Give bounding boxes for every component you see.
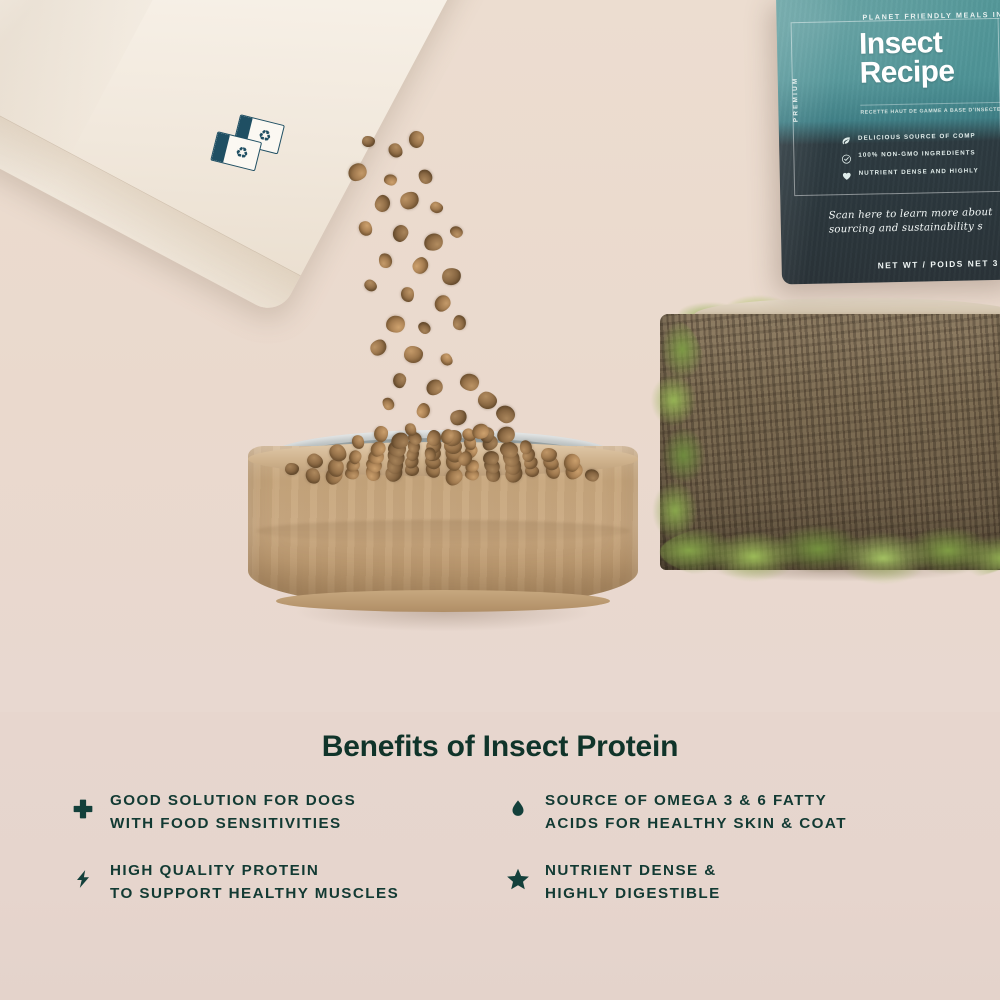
leaf-icon [841, 133, 851, 143]
check-badge-icon [841, 150, 851, 160]
stump-shadow [654, 560, 1000, 586]
kibble-piece [459, 373, 480, 392]
benefit-line-2: ACIDS FOR HEALTHY SKIN & COAT [545, 813, 847, 836]
bag-bullet-text: NUTRIENT DENSE AND HIGHLY [859, 167, 979, 177]
kibble-piece [303, 466, 323, 487]
bag-bullet-text: DELICIOUS SOURCE OF COMP [858, 132, 976, 141]
product-photo-scene: PLANET FRIENDLY MEALS IN PREMIUM Insect … [0, 0, 1000, 712]
bag-premium-label: PREMIUM [791, 48, 807, 122]
star-icon [505, 862, 531, 896]
benefits-heading: Benefits of Insect Protein [0, 730, 1000, 763]
kibble-piece [362, 277, 379, 294]
kibble-piece [438, 351, 455, 368]
benefit-text: GOOD SOLUTION FOR DOGS WITH FOOD SENSITI… [110, 790, 356, 836]
tree-stump [660, 298, 1000, 588]
benefit-item-food-sensitivities: GOOD SOLUTION FOR DOGS WITH FOOD SENSITI… [70, 790, 505, 860]
kibble-piece [476, 390, 499, 412]
kibble-piece [362, 136, 375, 147]
benefit-line-1: SOURCE OF OMEGA 3 & 6 FATTY [545, 792, 827, 809]
kibble-piece [385, 315, 406, 334]
bag-bullet-text: 100% NON-GMO INGREDIENTS [858, 149, 975, 158]
kibble-piece [421, 231, 445, 254]
bag-title-line2: Recipe [859, 58, 954, 89]
benefit-line-1: HIGH QUALITY PROTEIN [110, 862, 319, 879]
benefit-text: HIGH QUALITY PROTEIN TO SUPPORT HEALTHY … [110, 860, 399, 906]
kibble-piece [391, 223, 411, 244]
kibble-piece [448, 224, 465, 240]
kibble-piece [356, 219, 375, 238]
benefit-line-2: WITH FOOD SENSITIVITIES [110, 813, 356, 836]
bag-bullet-item: NUTRIENT DENSE AND HIGHLY [842, 164, 1000, 178]
benefit-line-2: HIGHLY DIGESTIBLE [545, 883, 721, 906]
kibble-piece [431, 292, 453, 315]
kibble-piece [447, 407, 469, 428]
kibble-piece [408, 130, 424, 148]
droplet-icon [505, 792, 531, 826]
bowl-wood-grain [256, 520, 630, 542]
kibble-piece [345, 160, 370, 185]
benefit-line-2: TO SUPPORT HEALTHY MUSCLES [110, 883, 399, 906]
recycling-labels: ♻ ♻ [204, 109, 295, 188]
kibble-piece [373, 194, 391, 214]
benefit-text: SOURCE OF OMEGA 3 & 6 FATTY ACIDS FOR HE… [545, 790, 847, 836]
benefits-panel: Benefits of Insect Protein GOOD SOLUTION… [0, 712, 1000, 1000]
product-marketing-image: PLANET FRIENDLY MEALS IN PREMIUM Insect … [0, 0, 1000, 1000]
kibble-piece [404, 346, 423, 363]
bag-bullet-list: DELICIOUS SOURCE OF COMP 100% NON-GMO IN… [841, 129, 1000, 185]
kibble-piece [285, 463, 299, 475]
recycle-icon: ♻ [225, 142, 260, 164]
kibble-piece [397, 188, 422, 212]
bag-bullet-item: 100% NON-GMO INGREDIENTS [841, 147, 1000, 161]
kibble-piece [415, 402, 431, 420]
kibble-piece [386, 141, 406, 161]
kibble-piece [377, 251, 394, 269]
insect-recipe-product-bag: PLANET FRIENDLY MEALS IN PREMIUM Insect … [776, 0, 1000, 284]
benefit-line-1: GOOD SOLUTION FOR DOGS [110, 792, 356, 809]
heart-icon [842, 168, 852, 178]
kibble-piece [423, 376, 446, 398]
kibble-piece [440, 266, 463, 287]
plus-icon [70, 792, 96, 826]
lightning-bolt-icon [70, 862, 96, 896]
kibble-piece [416, 319, 433, 336]
benefit-text: NUTRIENT DENSE & HIGHLY DIGESTIBLE [545, 860, 721, 906]
benefit-line-1: NUTRIENT DENSE & [545, 862, 717, 879]
kibble-piece [392, 373, 406, 389]
kibble-piece [400, 286, 416, 303]
kibble-piece [584, 467, 601, 483]
kibble-piece [410, 254, 431, 276]
bag-product-title: Insect Recipe [859, 29, 955, 89]
falling-kibble-stream [300, 130, 600, 440]
bag-scan-script-text: Scan here to learn more about sourcing a… [829, 205, 1000, 237]
moss-patch [642, 322, 714, 552]
kibble-piece [403, 421, 419, 438]
kibble-piece [305, 451, 325, 470]
kibble-piece [493, 403, 517, 426]
benefit-item-nutrient-dense: NUTRIENT DENSE & HIGHLY DIGESTIBLE [505, 860, 950, 930]
kibble-piece [470, 421, 491, 441]
kibble-piece [367, 336, 390, 359]
kibble-piece [416, 167, 435, 187]
benefit-item-high-quality-protein: HIGH QUALITY PROTEIN TO SUPPORT HEALTHY … [70, 860, 505, 930]
kibble-piece [383, 173, 397, 186]
kibble-piece [429, 200, 445, 215]
bowl-base [276, 590, 610, 612]
kibble-piece [453, 315, 467, 331]
kibble-piece [380, 395, 397, 412]
benefit-item-omega-fatty-acids: SOURCE OF OMEGA 3 & 6 FATTY ACIDS FOR HE… [505, 790, 950, 860]
benefits-grid: GOOD SOLUTION FOR DOGS WITH FOOD SENSITI… [70, 790, 950, 930]
